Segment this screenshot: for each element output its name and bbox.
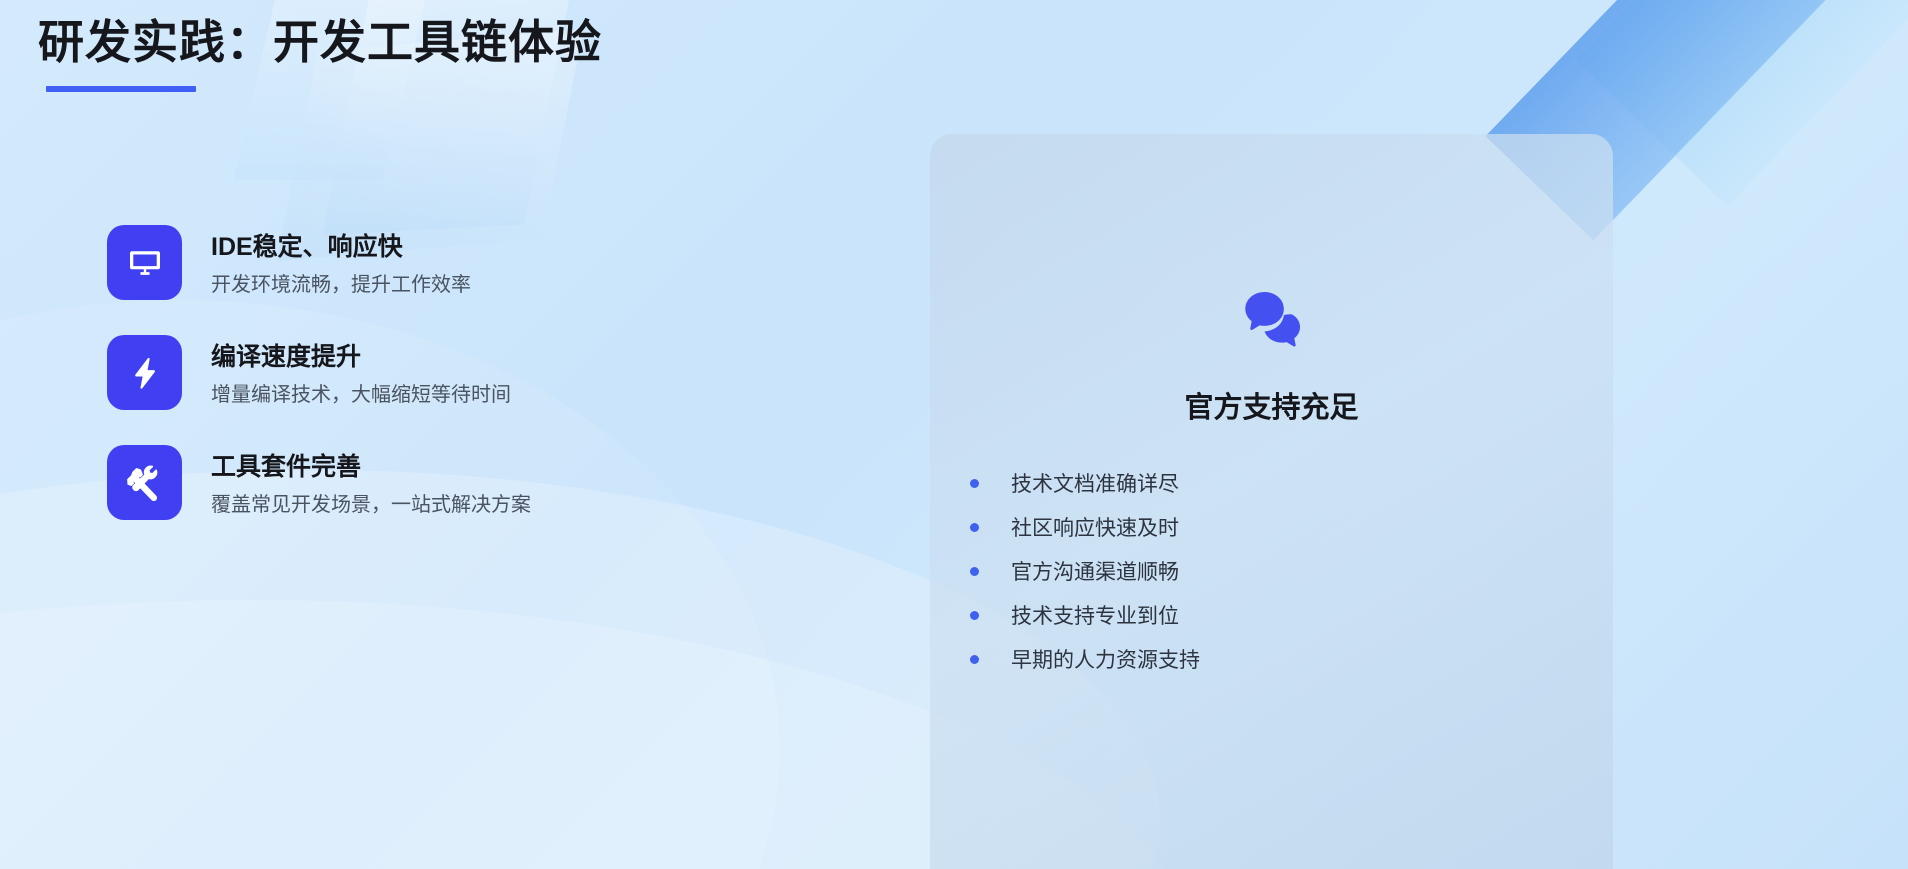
lightning-bolt-icon (107, 335, 182, 410)
list-item-label: 技术支持专业到位 (1011, 600, 1179, 630)
list-item: 官方沟通渠道顺畅 (970, 549, 1613, 593)
card-title: 官方支持充足 (930, 384, 1613, 426)
feature-text: IDE稳定、响应快 开发环境流畅，提升工作效率 (211, 225, 471, 298)
feature-title: IDE稳定、响应快 (211, 232, 471, 262)
feature-desc: 覆盖常见开发场景，一站式解决方案 (211, 492, 531, 518)
bullet-dot-icon (970, 655, 979, 664)
list-item-label: 技术文档准确详尽 (1011, 468, 1179, 498)
bullet-dot-icon (970, 611, 979, 620)
feature-desc: 增量编译技术，大幅缩短等待时间 (211, 382, 511, 408)
tools-icon (107, 445, 182, 520)
support-bullet-list: 技术文档准确详尽 社区响应快速及时 官方沟通渠道顺畅 技术支持专业到位 早期的人… (930, 461, 1613, 681)
title-accent-bar (46, 86, 196, 92)
feature-item[interactable]: IDE稳定、响应快 开发环境流畅，提升工作效率 (107, 225, 531, 300)
list-item-label: 社区响应快速及时 (1011, 512, 1179, 542)
feature-item[interactable]: 编译速度提升 增量编译技术，大幅缩短等待时间 (107, 335, 531, 410)
list-item-label: 早期的人力资源支持 (1011, 644, 1200, 674)
feature-desc: 开发环境流畅，提升工作效率 (211, 272, 471, 298)
feature-list: IDE稳定、响应快 开发环境流畅，提升工作效率 编译速度提升 增量编译技术，大幅… (107, 225, 531, 520)
slide-root: 研发实践：开发工具链体验 IDE稳定、响应快 开发环境流畅，提升工作效率 (0, 0, 1908, 869)
feature-title: 工具套件完善 (211, 452, 531, 482)
feature-text: 工具套件完善 覆盖常见开发场景，一站式解决方案 (211, 445, 531, 518)
support-card: 官方支持充足 技术文档准确详尽 社区响应快速及时 官方沟通渠道顺畅 技术支持专业… (930, 134, 1613, 869)
title-block: 研发实践：开发工具链体验 (38, 14, 602, 92)
page-title: 研发实践：开发工具链体验 (38, 14, 602, 72)
list-item: 技术支持专业到位 (970, 593, 1613, 637)
feature-title: 编译速度提升 (211, 342, 511, 372)
list-item: 早期的人力资源支持 (970, 637, 1613, 681)
feature-text: 编译速度提升 增量编译技术，大幅缩短等待时间 (211, 335, 511, 408)
list-item: 社区响应快速及时 (970, 505, 1613, 549)
bullet-dot-icon (970, 567, 979, 576)
bullet-dot-icon (970, 523, 979, 532)
feature-item[interactable]: 工具套件完善 覆盖常见开发场景，一站式解决方案 (107, 445, 531, 520)
monitor-icon (107, 225, 182, 300)
background-diagonal-light (1576, 0, 1908, 206)
list-item: 技术文档准确详尽 (970, 461, 1613, 505)
chat-bubbles-icon (930, 286, 1613, 352)
bullet-dot-icon (970, 479, 979, 488)
list-item-label: 官方沟通渠道顺畅 (1011, 556, 1179, 586)
